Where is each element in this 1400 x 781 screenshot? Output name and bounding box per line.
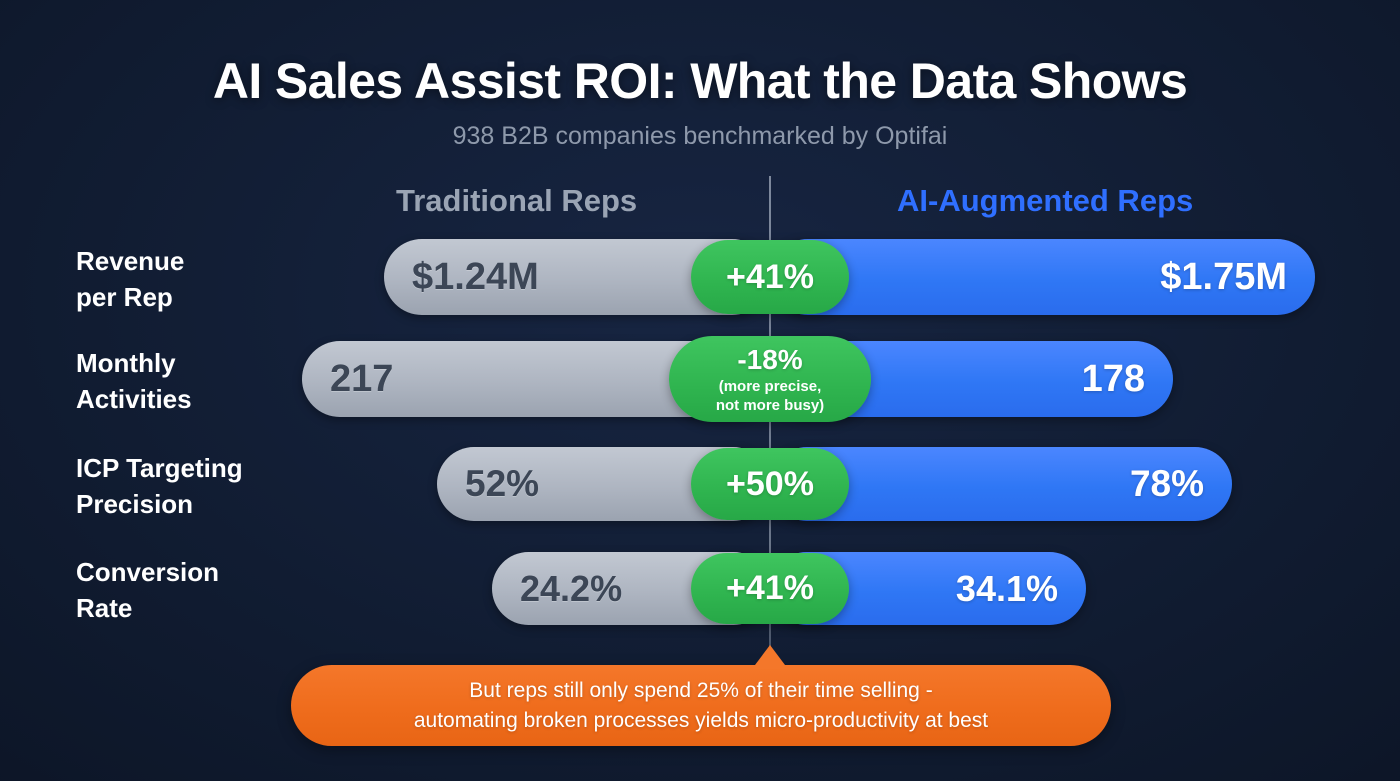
infographic-canvas: AI Sales Assist ROI: What the Data Shows…	[0, 0, 1400, 781]
ai-value: 78%	[1130, 463, 1232, 505]
delta-badge: -18% (more precise, not more busy)	[669, 336, 871, 422]
row-label: ICP Targeting Precision	[76, 450, 243, 522]
ai-bar: $1.75M	[770, 239, 1315, 315]
delta-value: +50%	[726, 465, 814, 504]
column-header-traditional: Traditional Reps	[396, 183, 637, 219]
metric-row-revenue-per-rep: Revenue per Rep $1.24M $1.75M +41%	[0, 239, 1400, 317]
callout-arrow-icon	[752, 645, 788, 669]
ai-value: $1.75M	[1160, 256, 1315, 299]
column-headers: Traditional Reps AI-Augmented Reps	[0, 183, 1400, 225]
delta-badge: +50%	[691, 448, 849, 520]
delta-value: +41%	[726, 569, 814, 608]
ai-value: 34.1%	[956, 568, 1086, 610]
page-subtitle: 938 B2B companies benchmarked by Optifai	[0, 122, 1400, 151]
delta-badge: +41%	[691, 553, 849, 624]
row-label: Conversion Rate	[76, 554, 219, 626]
page-title: AI Sales Assist ROI: What the Data Shows	[0, 52, 1400, 110]
metric-row-icp-targeting-precision: ICP Targeting Precision 52% 78% +50%	[0, 447, 1400, 523]
footer-callout: But reps still only spend 25% of their t…	[291, 665, 1111, 746]
column-header-ai: AI-Augmented Reps	[897, 183, 1193, 219]
delta-note: (more precise, not more busy)	[716, 377, 824, 415]
traditional-value: $1.24M	[384, 256, 539, 299]
traditional-value: 217	[302, 358, 393, 401]
traditional-value: 52%	[437, 463, 539, 505]
delta-badge: +41%	[691, 240, 849, 314]
row-label: Monthly Activities	[76, 345, 192, 417]
ai-value: 178	[1082, 358, 1173, 401]
delta-value: -18%	[737, 344, 802, 376]
traditional-value: 24.2%	[492, 568, 622, 610]
header: AI Sales Assist ROI: What the Data Shows…	[0, 0, 1400, 151]
footer-callout-text: But reps still only spend 25% of their t…	[414, 676, 988, 736]
delta-value: +41%	[726, 258, 814, 297]
metric-row-conversion-rate: Conversion Rate 24.2% 34.1% +41%	[0, 552, 1400, 626]
row-label: Revenue per Rep	[76, 243, 184, 315]
metric-row-monthly-activities: Monthly Activities 217 178 -18% (more pr…	[0, 341, 1400, 419]
